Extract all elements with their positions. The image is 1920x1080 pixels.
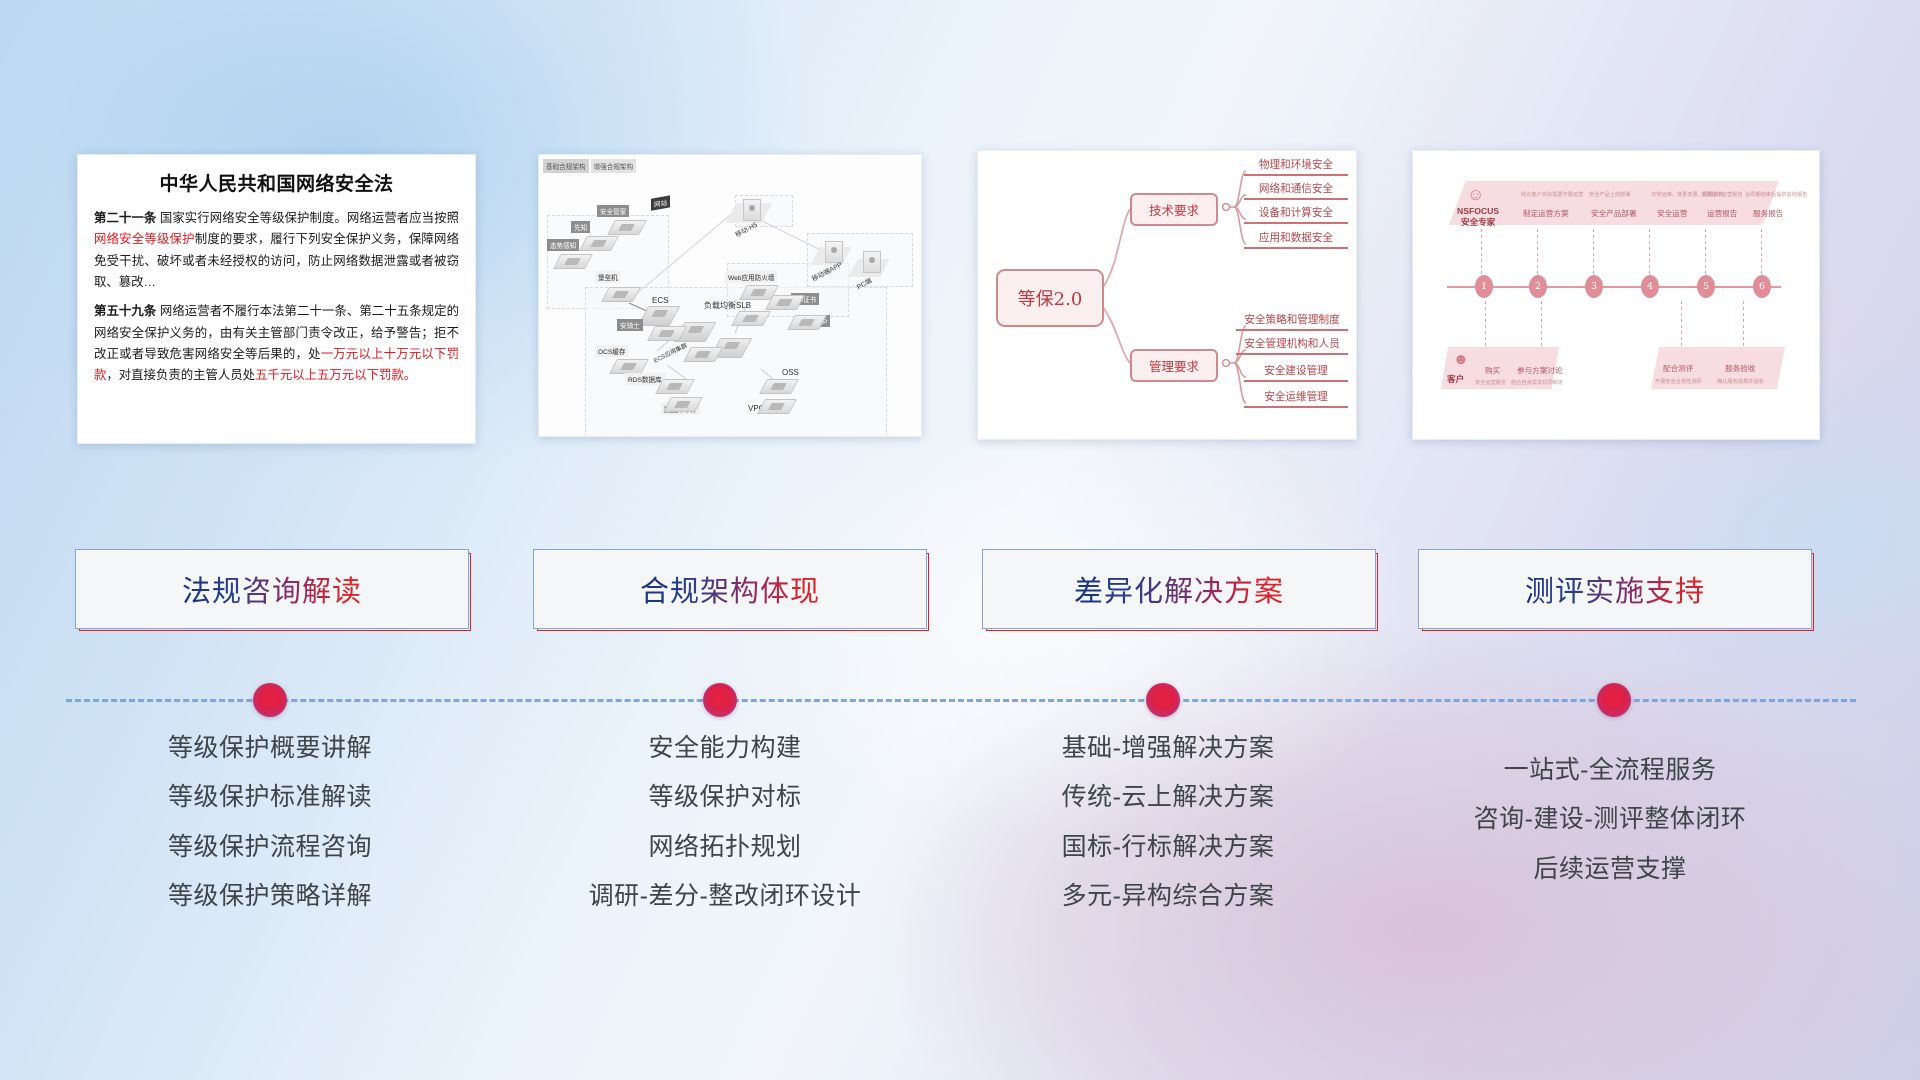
card-cybersecurity-law[interactable]: 中华人民共和国网络安全法 第二十一条 国家实行网络安全等级保护制度。网络运营者应… [77,154,476,444]
list-item: 等级保护标准解读 [60,782,480,813]
card-row: 中华人民共和国网络安全法 第二十一条 国家实行网络安全等级保护制度。网络运营者应… [0,150,1920,450]
architecture-node-ocs-icon [613,355,643,372]
label-text-differentiated-solution: 差异化解决方案 [1074,568,1284,610]
nsfocus-connector-1 [1481,229,1482,277]
list-item: 国标-行标解决方案 [958,832,1378,863]
nsfocus-connector-5 [1705,229,1706,277]
mindmap-branch-management[interactable]: 管理要求 [1130,349,1218,382]
law-article-21-text-a: 国家实行网络安全等级保护制度。网络运营者应当按照 [156,211,459,225]
list-item: 后续运营支撑 [1400,854,1820,885]
architecture-node-antiddos-icon [791,311,821,328]
mindmap-leaf-org-personnel: 安全管理机构和人员 [1236,336,1348,355]
detail-column-regulation-consulting: 等级保护概要讲解 等级保护标准解读 等级保护流程咨询 等级保护策略详解 [60,733,480,930]
law-article-21: 第二十一条 国家实行网络安全等级保护制度。网络运营者应当按照网络安全等级保护制度… [94,208,459,293]
mindmap-leaf-policy-system: 安全策略和管理制度 [1236,312,1348,331]
label-box-differentiated-solution[interactable]: 差异化解决方案 [982,549,1376,629]
nsfocus-brand-sub: 安全专家 [1461,216,1495,228]
nsfocus-axis-line [1447,286,1781,288]
nsfocus-connector-6 [1761,229,1762,277]
timeline-dot-2[interactable] [703,683,737,717]
nsfocus-acceptance-tiny-1: 开展安全合规性测评 [1655,378,1702,385]
timeline-dashed-line [66,699,1856,702]
list-item: 等级保护流程咨询 [60,832,480,863]
nsfocus-top-step-3: 安全运营 [1657,208,1687,219]
timeline-dot-3[interactable] [1146,683,1180,717]
card-dengbao-mindmap[interactable]: 等保2.0 技术要求 物理和环境安全 网络和通信安全 设备和计算安全 应用和数据… [977,150,1357,440]
architecture-node-anqishi-label: 安骑士 [617,319,643,331]
label-box-regulation-consulting[interactable]: 法规咨询解读 [75,549,469,629]
list-item: 基础-增强解决方案 [958,733,1378,764]
mindmap-root-node[interactable]: 等保2.0 [996,269,1104,327]
architecture-node-bastion-icon [605,283,635,300]
law-article-59-text-b: ，对直接负责的主管人员处 [106,368,255,382]
nsfocus-expert-person-icon: ☺ [1467,185,1484,205]
detail-column-differentiated-solution: 基础-增强解决方案 传统-云上解决方案 国标-行标解决方案 多元-异构综合方案 [958,733,1378,930]
list-item: 网络拓扑规划 [515,832,935,863]
timeline-dot-4[interactable] [1597,683,1631,717]
mindmap-leaf-device-compute: 设备和计算安全 [1244,205,1348,224]
nsfocus-brand: NSFOCUS [1457,206,1499,216]
law-article-59: 第五十九条 网络运营者不履行本法第二十一条、第二十五条规定的网络安全保护义务的，… [94,301,459,386]
nsfocus-step-number-2: 2 [1529,275,1547,298]
list-item: 等级保护对标 [515,782,935,813]
architecture-client-pc-icon [863,251,881,273]
label-box-evaluation-support[interactable]: 测评实施支持 [1418,549,1812,629]
list-item: 传统-云上解决方案 [958,782,1378,813]
detail-column-compliance-architecture: 安全能力构建 等级保护对标 网络拓扑规划 调研-差分-整改闭环设计 [515,733,935,930]
law-title: 中华人民共和国网络安全法 [94,169,459,196]
nsfocus-customer-brand: 客户 [1447,373,1464,385]
card-nsfocus-process[interactable]: ☺ NSFOCUS 安全专家 结合客户实际需要开展运营 制定运营方案 安全产品上… [1412,150,1820,440]
nsfocus-customer-step-1: 购买 [1485,365,1500,376]
mindmap-leaf-construction: 安全建设管理 [1244,363,1348,382]
list-item: 多元-异构综合方案 [958,881,1378,912]
detail-column-evaluation-support: 一站式-全流程服务 咨询-建设-测评整体闭环 后续运营支撑 [1400,755,1820,903]
nsfocus-step-number-3: 3 [1585,275,1603,298]
timeline-dot-1[interactable] [253,683,287,717]
nsfocus-acceptance-tiny-2: 确认服务成果并验收 [1717,378,1764,385]
nsfocus-connector-7 [1485,301,1486,347]
list-item: 等级保护概要讲解 [60,733,480,764]
nsfocus-customer-person-icon: ☻ [1453,351,1469,368]
label-text-regulation-consulting: 法规咨询解读 [182,568,362,610]
label-text-evaluation-support: 测评实施支持 [1525,568,1705,610]
nsfocus-acceptance-step-1: 配合测评 [1663,363,1693,374]
nsfocus-top-step-4: 运营报告 [1707,208,1737,219]
architecture-node-ca-icon [769,291,799,308]
nsfocus-customer-tiny-1: 安全运营服务 [1475,379,1506,386]
architecture-node-slb-icon [735,307,765,324]
nsfocus-top-tiny-2: 安全产品上线部署 [1589,191,1631,198]
architecture-node-rds-icon [659,375,689,392]
architecture-node-situational-awareness-icon [557,250,587,267]
nsfocus-top-step-2: 安全产品部署 [1591,208,1637,219]
list-item: 一站式-全流程服务 [1400,755,1820,786]
architecture-node-anqishi-icon [651,322,681,339]
list-item: 安全能力构建 [515,733,935,764]
architecture-node-ecs-icon [643,305,673,322]
card-compliance-architecture[interactable]: 基础合规架构 增强合规架构 网站 态势感知 [538,154,922,437]
detail-list-row: 等级保护概要讲解 等级保护标准解读 等级保护流程咨询 等级保护策略详解 安全能力… [0,733,1920,963]
list-item: 咨询-建设-测评整体闭环 [1400,804,1820,835]
architecture-node-db-audit-icon [667,393,697,410]
nsfocus-top-step-5: 服务报告 [1753,208,1783,219]
nsfocus-customer-step-2: 参与方案讨论 [1517,365,1563,376]
timeline [0,680,1920,720]
mindmap-leaf-network-comm: 网络和通信安全 [1244,181,1348,200]
nsfocus-connector-9 [1681,301,1682,347]
nsfocus-connector-2 [1537,229,1538,277]
nsfocus-connector-4 [1649,229,1650,277]
nsfocus-step-number-6: 6 [1753,275,1771,298]
nsfocus-step-number-4: 4 [1641,275,1659,298]
list-item: 等级保护策略详解 [60,881,480,912]
mindmap-leaf-operations: 安全运维管理 [1244,389,1348,408]
nsfocus-top-tiny-4: 定期提供运营报告 [1701,191,1743,198]
nsfocus-step-number-1: 1 [1475,275,1493,298]
mindmap-branch-technical[interactable]: 技术要求 [1130,193,1218,226]
nsfocus-top-step-1: 制定运营方案 [1523,208,1569,219]
nsfocus-connector-10 [1743,301,1744,347]
nsfocus-top-tiny-1: 结合客户实际需要开展运营 [1521,191,1583,198]
label-box-compliance-architecture[interactable]: 合规架构体现 [533,549,927,629]
mindmap-leaf-physical-env: 物理和环境安全 [1244,157,1348,176]
architecture-node-bastion-label: 堡垒机 [595,271,621,283]
architecture-node-security-butler-icon [611,216,641,233]
mindmap-leaf-app-data: 应用和数据安全 [1244,230,1348,249]
law-article-21-highlight: 网络安全等级保护 [94,232,195,246]
nsfocus-top-tiny-5: 合同期结束后提供总结报告 [1745,191,1807,198]
nsfocus-connector-8 [1541,301,1542,347]
architecture-node-oss-icon [763,375,793,392]
nsfocus-connector-3 [1593,229,1594,277]
architecture-node-ecs-icon-4 [687,343,717,360]
law-article-59-highlight-2: 五千元以上五万元以下罚款。 [255,368,416,382]
list-item: 调研-差分-整改闭环设计 [515,881,935,912]
law-article-59-number: 第五十九条 [94,304,156,318]
label-text-compliance-architecture: 合规架构体现 [640,568,820,610]
nsfocus-customer-tiny-2: 结合自身需求共同制定 [1511,379,1563,386]
label-row: 法规咨询解读 合规架构体现 差异化解决方案 测评实施支持 [0,549,1920,639]
nsfocus-step-number-5: 5 [1697,275,1715,298]
law-article-21-number: 第二十一条 [94,211,156,225]
nsfocus-acceptance-step-2: 服务验收 [1725,363,1755,374]
architecture-node-vpc-icon [761,395,791,412]
